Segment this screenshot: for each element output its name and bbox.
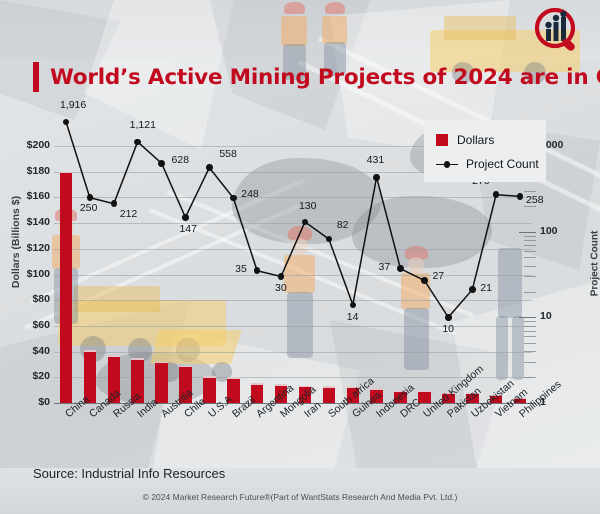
point-label: 258 [526,194,544,206]
data-point-marker [397,265,404,272]
title-text: World’s Active Mining Projects of 2024 a… [50,65,600,90]
data-point-marker [469,286,476,293]
legend-swatch-dollars [436,134,448,146]
data-point-marker [158,160,165,167]
data-point-marker [421,277,428,284]
data-point-marker [230,195,237,202]
chart-title: World’s Active Mining Projects of 2024 a… [33,62,600,92]
data-point-marker [111,200,118,207]
legend-line-icon [436,158,458,170]
point-label: 212 [120,208,138,220]
data-point-marker [134,139,141,146]
point-label: 1,916 [60,99,86,111]
data-point-marker [278,273,285,280]
data-point-marker [517,193,524,200]
legend-label-project-count: Project Count [466,157,539,171]
data-point-marker [373,174,380,181]
point-label: 14 [347,311,359,323]
copyright-text: © 2024 Market Research Future®(Part of W… [0,492,600,502]
point-label: 628 [172,154,190,166]
data-point-marker [182,214,189,221]
point-label: 35 [235,263,247,275]
point-label: 558 [219,148,237,160]
point-label: 250 [80,202,98,214]
point-label: 82 [337,219,349,231]
point-label: 10 [442,323,454,335]
point-label: 431 [367,154,385,166]
mrf-logo-icon [530,7,586,53]
legend-item-project-count: Project Count [436,152,546,176]
data-point-marker [206,164,213,171]
point-label: 37 [379,261,391,273]
legend-item-dollars: Dollars [436,128,546,152]
legend-label-dollars: Dollars [457,133,494,147]
data-point-marker [445,314,452,321]
point-label: 21 [480,282,492,294]
infographic-root: World’s Active Mining Projects of 2024 a… [0,0,600,514]
source-text: Source: Industrial Info Resources [33,466,225,481]
data-point-marker [350,302,357,309]
data-point-marker [87,194,94,201]
point-label: 147 [179,223,197,235]
chart-legend: Dollars Project Count [424,120,546,182]
point-label: 30 [275,282,287,294]
point-label: 248 [241,188,259,200]
point-label: 1,121 [130,119,156,131]
title-accent-bar [33,62,39,92]
point-label: 130 [299,200,317,212]
point-label: 27 [432,270,444,282]
